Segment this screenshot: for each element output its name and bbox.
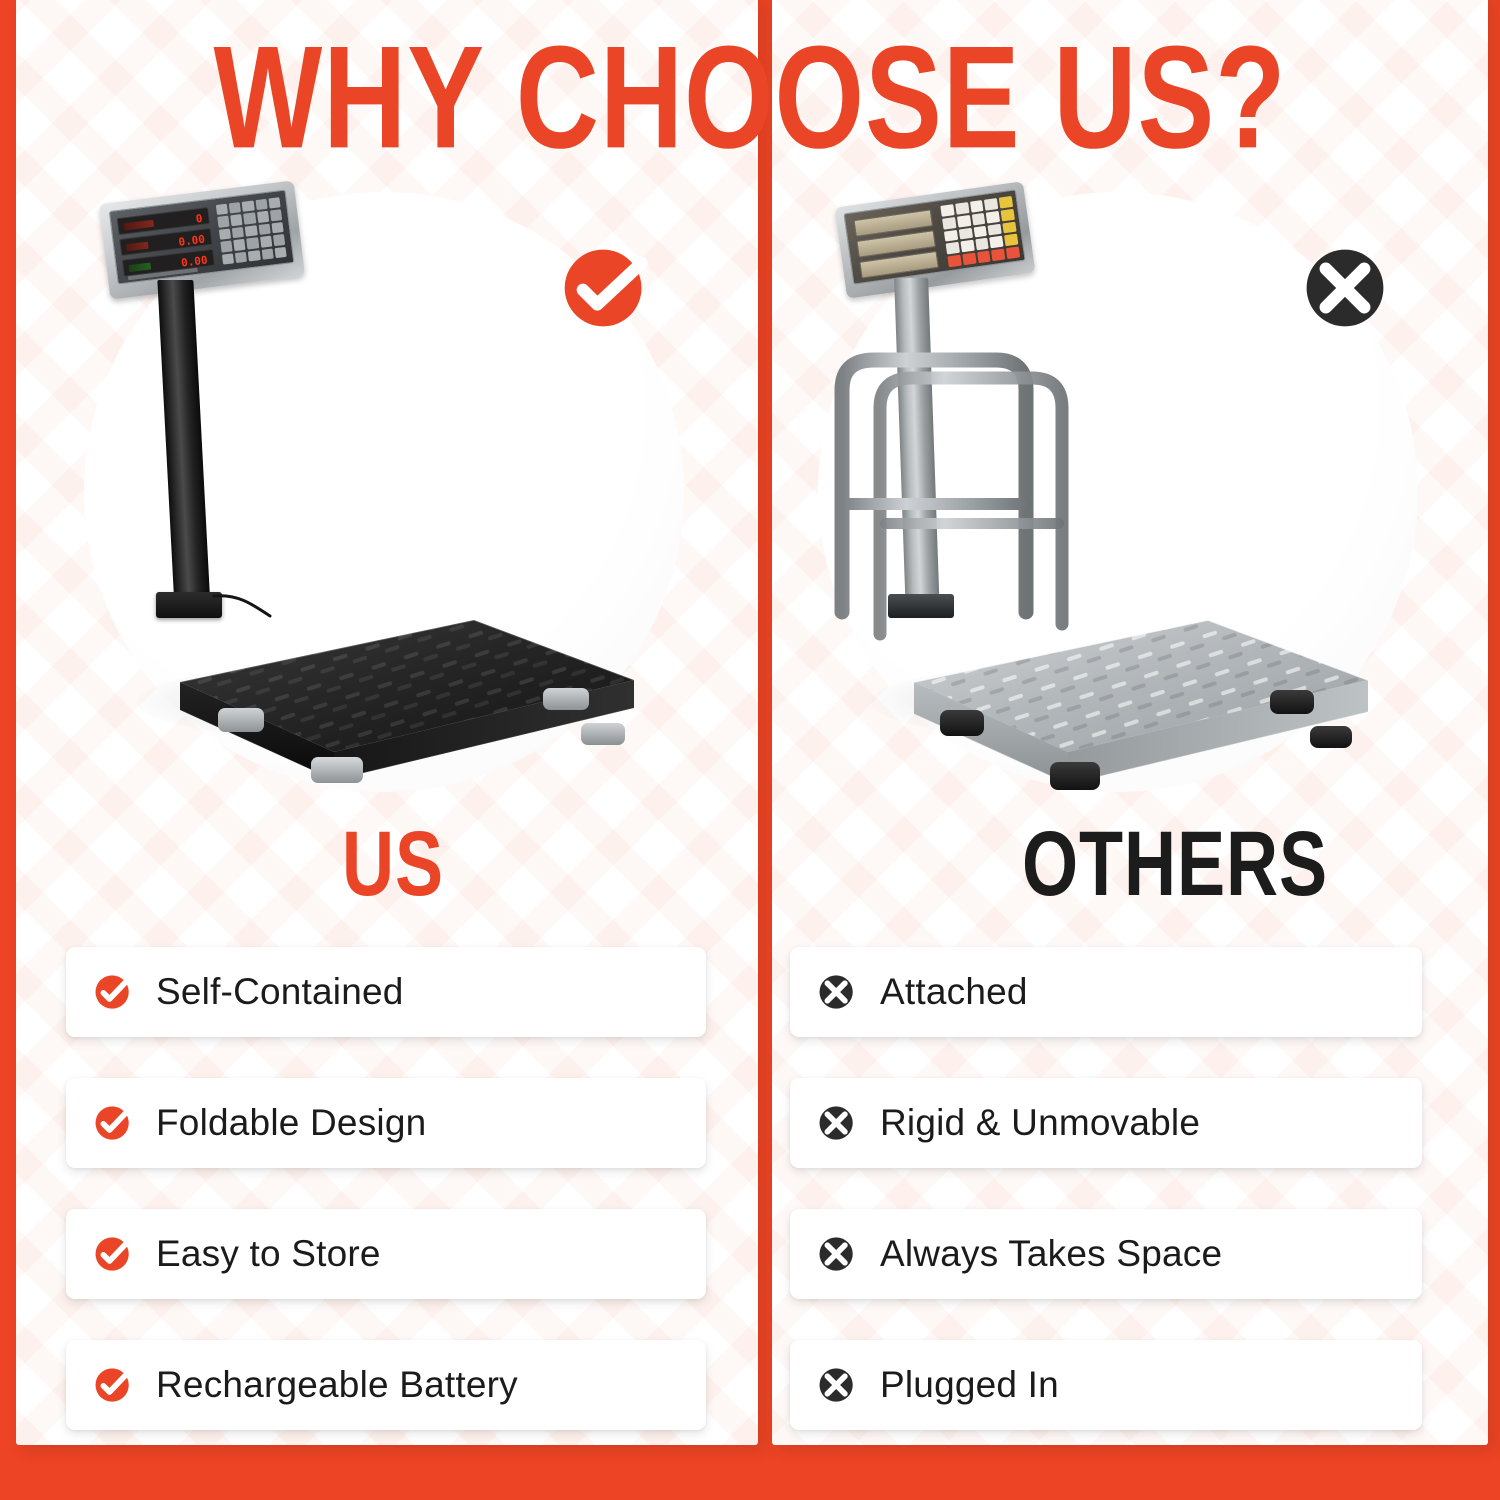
list-item-label: Attached	[880, 971, 1028, 1013]
foot-2-others	[1050, 762, 1100, 790]
column-title-us: US	[342, 812, 444, 917]
list-item[interactable]: Always Takes Space	[790, 1209, 1422, 1299]
foot-3-others	[1270, 690, 1314, 714]
cross-circle-icon	[816, 971, 858, 1013]
foot-2-us	[311, 757, 363, 783]
list-item-label: Foldable Design	[156, 1102, 426, 1144]
support-post-us	[157, 280, 210, 610]
list-item[interactable]: Plugged In	[790, 1340, 1422, 1430]
foot-3-us	[543, 688, 589, 710]
foot-4-us	[581, 723, 625, 745]
cross-circle-icon	[816, 1102, 858, 1144]
platform-others	[828, 584, 1388, 784]
list-item[interactable]: Rechargeable Battery	[66, 1340, 706, 1430]
keypad-others	[940, 196, 1020, 267]
list-item-label: Easy to Store	[156, 1233, 381, 1275]
list-item[interactable]: Easy to Store	[66, 1209, 706, 1299]
foot-1-us	[218, 708, 264, 732]
check-badge-icon	[557, 240, 653, 336]
page-title: WHY CHOOSE US?	[75, 14, 1425, 182]
list-item-label: Plugged In	[880, 1364, 1059, 1406]
list-item[interactable]: Self-Contained	[66, 947, 706, 1037]
infographic-canvas: WHY CHOOSE US? 0 0.00	[0, 0, 1500, 1500]
foot-1-others	[940, 710, 984, 736]
list-item-label: Rechargeable Battery	[156, 1364, 518, 1406]
check-circle-icon	[92, 1233, 134, 1275]
list-item-label: Rigid & Unmovable	[880, 1102, 1200, 1144]
platform-us	[94, 584, 654, 784]
feature-list-others: Attached Rigid & Unmovable Always Takes …	[790, 947, 1422, 1430]
feature-list-us: Self-Contained Foldable Design Easy to S…	[66, 947, 706, 1430]
cross-circle-icon	[816, 1364, 858, 1406]
list-item-label: Self-Contained	[156, 971, 404, 1013]
list-item[interactable]: Rigid & Unmovable	[790, 1078, 1422, 1168]
list-item[interactable]: Foldable Design	[66, 1078, 706, 1168]
foot-4-others	[1310, 726, 1352, 748]
keypad-us	[216, 197, 287, 264]
display-head-others	[835, 181, 1036, 299]
cross-badge-icon	[1297, 240, 1393, 336]
check-circle-icon	[92, 1364, 134, 1406]
list-item[interactable]: Attached	[790, 947, 1422, 1037]
list-item-label: Always Takes Space	[880, 1233, 1222, 1275]
display-head-us: 0 0.00 0.00	[99, 180, 305, 299]
column-title-others: OTHERS	[1022, 812, 1328, 917]
check-circle-icon	[92, 1102, 134, 1144]
cross-circle-icon	[816, 1233, 858, 1275]
check-circle-icon	[92, 971, 134, 1013]
